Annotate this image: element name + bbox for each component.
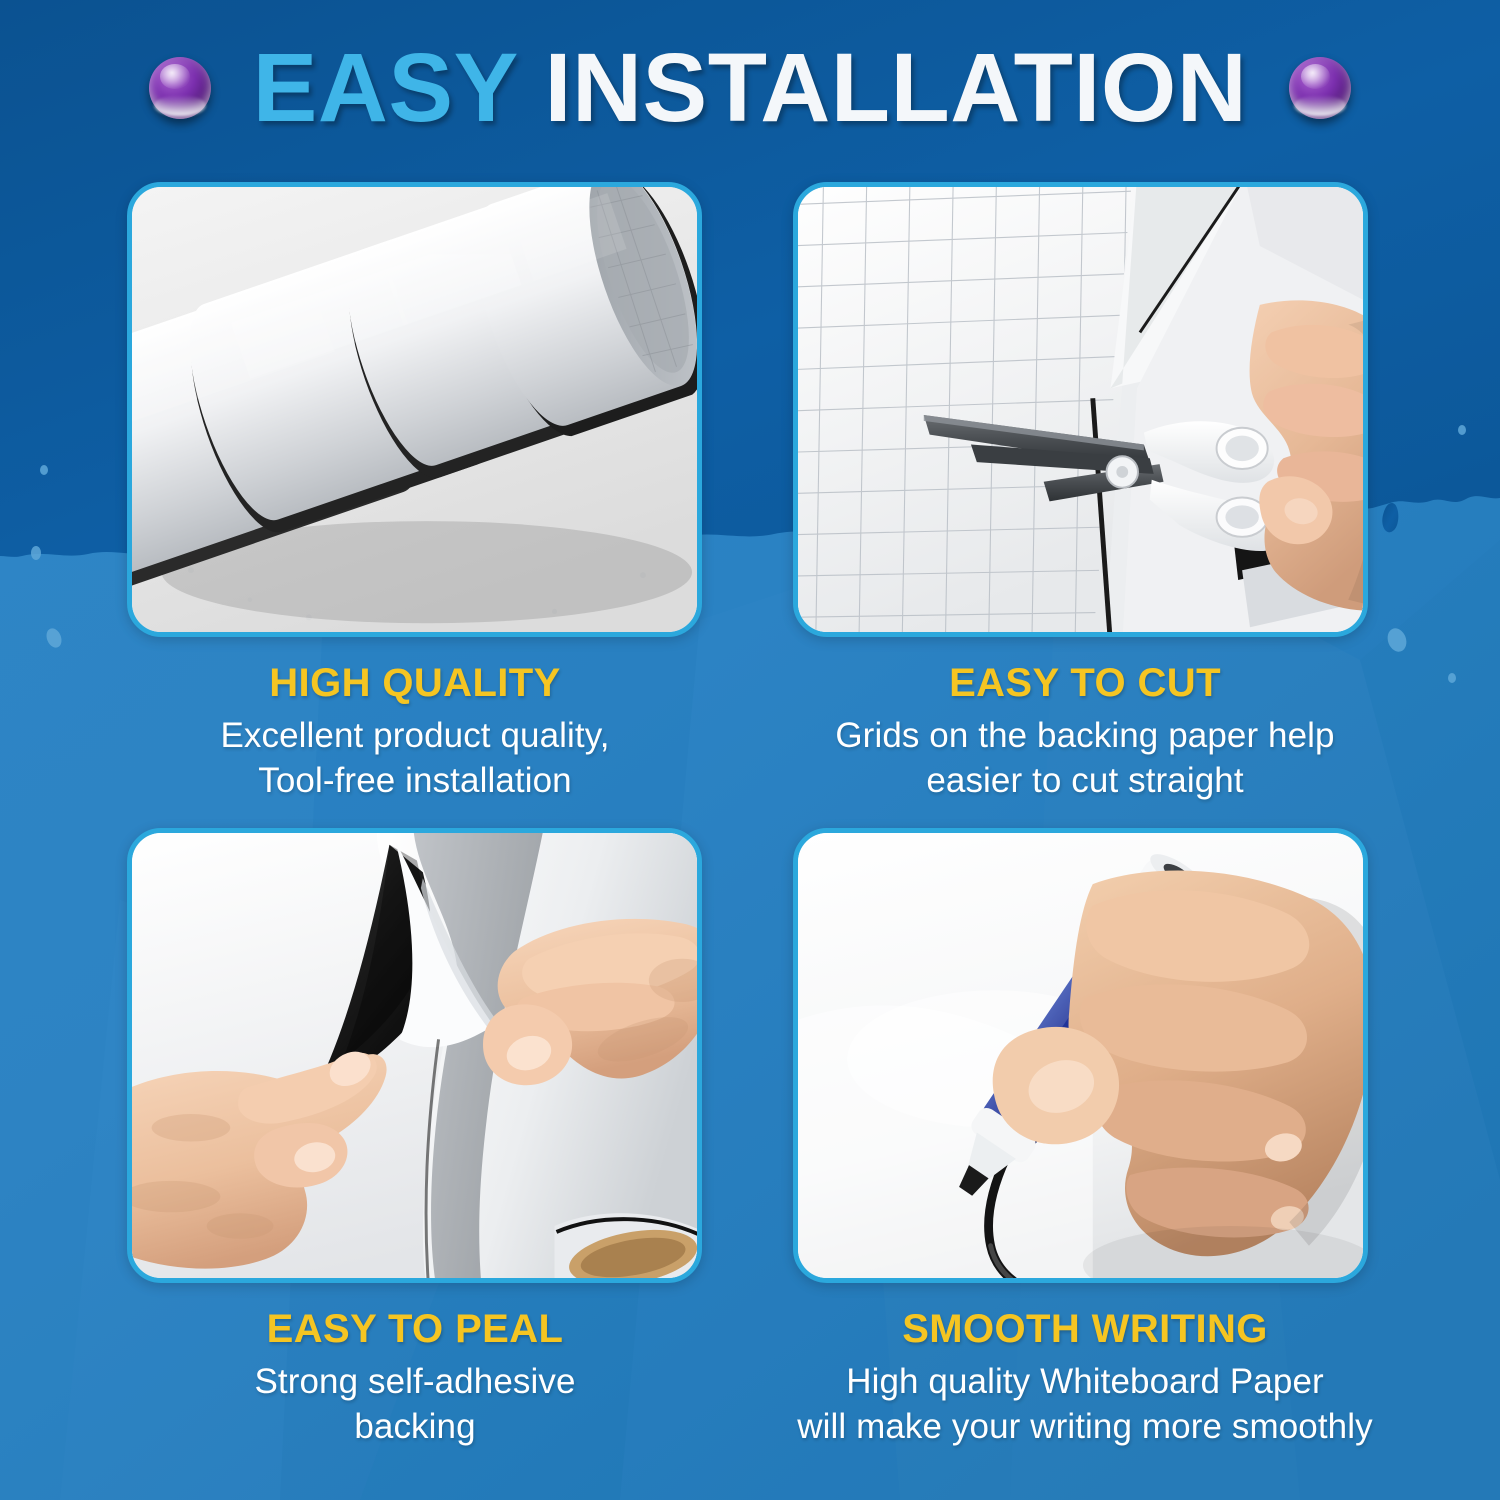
caption-body-line: backing — [110, 1405, 720, 1450]
page-header: EASY INSTALLATION — [0, 0, 1500, 175]
caption-easy-to-cut: EASY TO CUT Grids on the backing paper h… — [780, 660, 1390, 804]
caption-body: Strong self-adhesive backing — [110, 1360, 720, 1450]
caption-heading: EASY TO CUT — [780, 660, 1390, 706]
caption-body-line: Strong self-adhesive — [110, 1360, 720, 1405]
photo-peeling-backing — [132, 833, 697, 1280]
caption-heading: HIGH QUALITY — [110, 660, 720, 706]
caption-body: High quality Whiteboard Paper will make … — [760, 1360, 1410, 1450]
page-title-word-easy: EASY — [253, 33, 517, 142]
caption-body-line: Grids on the backing paper help — [780, 714, 1390, 759]
caption-high-quality: HIGH QUALITY Excellent product quality, … — [110, 660, 720, 804]
photo-paper-roll — [132, 187, 697, 634]
feature-photo-smooth-writing: JW-528 og JIAWEI No.1 — [793, 828, 1368, 1283]
page-title: EASY INSTALLATION — [253, 39, 1248, 136]
caption-body: Excellent product quality, Tool-free ins… — [110, 714, 720, 804]
caption-smooth-writing: SMOOTH WRITING High quality Whiteboard P… — [760, 1306, 1410, 1450]
caption-easy-to-peal: EASY TO PEAL Strong self-adhesive backin… — [110, 1306, 720, 1450]
caption-heading: EASY TO PEAL — [110, 1306, 720, 1352]
caption-body-line: easier to cut straight — [780, 759, 1390, 804]
caption-body-line: Excellent product quality, — [110, 714, 720, 759]
purple-magnet-icon-right — [1289, 57, 1351, 119]
caption-body: Grids on the backing paper help easier t… — [780, 714, 1390, 804]
caption-heading: SMOOTH WRITING — [760, 1306, 1410, 1352]
page-title-word-installation: INSTALLATION — [545, 33, 1248, 142]
purple-magnet-icon-left — [149, 57, 211, 119]
photo-marker-writing: JW-528 og JIAWEI No.1 — [798, 833, 1363, 1280]
caption-body-line: High quality Whiteboard Paper — [760, 1360, 1410, 1405]
feature-photo-easy-to-peal — [127, 828, 702, 1283]
feature-photo-high-quality — [127, 182, 702, 637]
photo-scissors-cutting — [798, 187, 1363, 634]
feature-photo-easy-to-cut — [793, 182, 1368, 637]
caption-body-line: Tool-free installation — [110, 759, 720, 804]
caption-body-line: will make your writing more smoothly — [760, 1405, 1410, 1450]
